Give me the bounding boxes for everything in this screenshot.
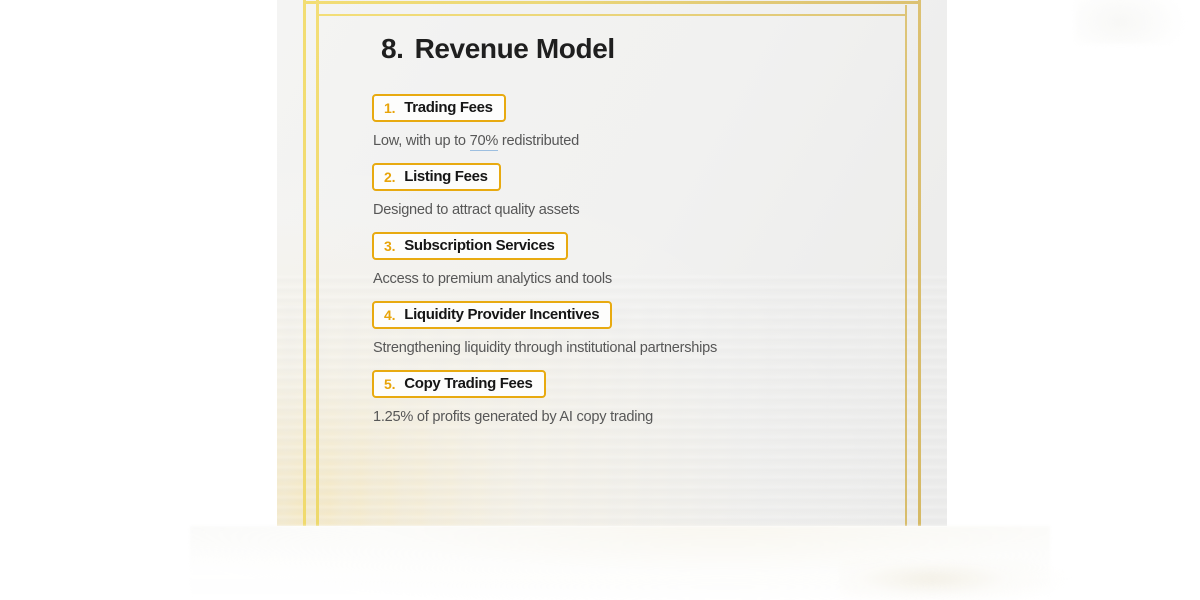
page-title-number: 8.	[381, 33, 404, 64]
badge-label: Liquidity Provider Incentives	[404, 307, 599, 322]
badge-label: Copy Trading Fees	[404, 376, 532, 391]
badge-number: 4.	[384, 308, 395, 322]
frame-top-outer-rule	[303, 1, 921, 4]
slide-stage: 8.Revenue Model 1. Trading Fees Low, wit…	[0, 0, 1200, 600]
revenue-description-copy-trading-fees: 1.25% of profits generated by AI copy tr…	[373, 409, 932, 425]
list-item: 1. Trading Fees Low, with up to 70% redi…	[372, 94, 932, 149]
description-text-before: Low, with up to	[373, 133, 470, 149]
page-title-text: Revenue Model	[415, 33, 615, 64]
badge-label: Listing Fees	[404, 169, 487, 184]
revenue-badge-listing-fees[interactable]: 2. Listing Fees	[372, 163, 501, 191]
badge-label: Trading Fees	[404, 100, 492, 115]
badge-label: Subscription Services	[404, 238, 554, 253]
badge-number: 1.	[384, 101, 395, 115]
revenue-badge-trading-fees[interactable]: 1. Trading Fees	[372, 94, 506, 122]
card-reflection-smudge	[840, 560, 1070, 600]
description-text-before: 1.25% of profits generated by AI copy tr…	[373, 409, 653, 425]
revenue-stream-list: 1. Trading Fees Low, with up to 70% redi…	[372, 94, 932, 439]
list-item: 3. Subscription Services Access to premi…	[372, 232, 932, 287]
top-right-glare	[1075, 0, 1200, 44]
revenue-description-subscription-services: Access to premium analytics and tools	[373, 271, 932, 287]
revenue-badge-subscription-services[interactable]: 3. Subscription Services	[372, 232, 568, 260]
page-title: 8.Revenue Model	[381, 33, 615, 65]
description-text-before: Access to premium analytics and tools	[373, 271, 612, 287]
description-text-after: redistributed	[498, 133, 579, 149]
description-text-before: Strengthening liquidity through institut…	[373, 340, 717, 356]
revenue-description-listing-fees: Designed to attract quality assets	[373, 202, 932, 218]
description-highlight: 70%	[470, 133, 498, 151]
frame-left-inner-rule	[316, 0, 319, 526]
revenue-description-trading-fees: Low, with up to 70% redistributed	[373, 133, 932, 149]
frame-top-inner-rule	[316, 14, 906, 16]
badge-number: 3.	[384, 239, 395, 253]
badge-number: 5.	[384, 377, 395, 391]
revenue-description-liquidity-provider-incentives: Strengthening liquidity through institut…	[373, 340, 932, 356]
list-item: 2. Listing Fees Designed to attract qual…	[372, 163, 932, 218]
list-item: 5. Copy Trading Fees 1.25% of profits ge…	[372, 370, 932, 425]
revenue-badge-liquidity-provider-incentives[interactable]: 4. Liquidity Provider Incentives	[372, 301, 612, 329]
card-reflection	[190, 526, 1050, 600]
badge-number: 2.	[384, 170, 395, 184]
description-text-before: Designed to attract quality assets	[373, 202, 579, 218]
frame-left-outer-rule	[303, 0, 306, 526]
revenue-badge-copy-trading-fees[interactable]: 5. Copy Trading Fees	[372, 370, 546, 398]
list-item: 4. Liquidity Provider Incentives Strengt…	[372, 301, 932, 356]
